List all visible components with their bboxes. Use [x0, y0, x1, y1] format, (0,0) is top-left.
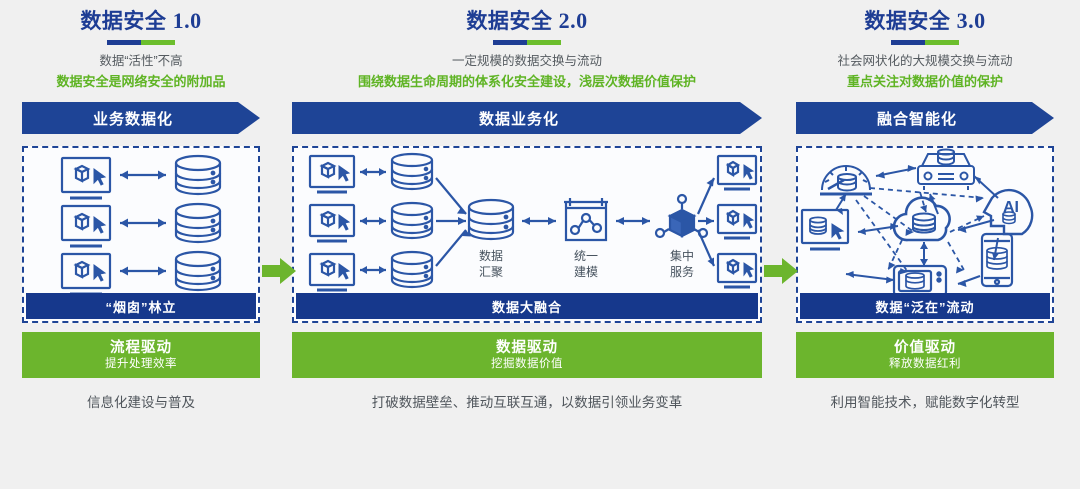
mesh-dashed-link: [920, 192, 927, 212]
divider-blue-half: [493, 40, 527, 45]
diverging-arrow: [698, 178, 714, 214]
stage-2-title-version: 2.0: [559, 8, 588, 33]
stage-1-subtitle-gray: 数据“活性”不高: [22, 52, 260, 70]
stage-1-banner-label: 业务数据化: [93, 108, 173, 129]
divider-green-half: [527, 40, 561, 45]
stage-1-title: 数据安全 1.0: [22, 8, 260, 35]
stage-1-divider: [107, 40, 175, 45]
divider-blue-half: [891, 40, 925, 45]
stage-2-driver-box: 数据驱动 挖掘数据价值: [292, 332, 762, 378]
stage-3-diagram-panel: AI: [796, 146, 1054, 323]
green-arrow-icon: [764, 258, 798, 284]
divider-green-half: [925, 40, 959, 45]
stage-3-driver-sub: 释放数据红利: [889, 357, 961, 372]
monitor-cube-icon: [62, 206, 110, 246]
stage-3-strip-label: 数据“泛在”流动: [875, 297, 974, 316]
bidirectional-arrow: [120, 171, 166, 180]
bidirectional-arrow: [522, 217, 556, 225]
stage-2-strip: 数据大融合: [296, 293, 758, 319]
car-database-icon: [918, 150, 974, 191]
stage-column-2: 数据安全 2.0 一定规模的数据交换与流动 围绕数据生命周期的体系化安全建设，浅…: [292, 0, 762, 489]
stage-2-heading: 数据安全 2.0 一定规模的数据交换与流动 围绕数据生命周期的体系化安全建设，浅…: [292, 8, 762, 92]
stage-3-title: 数据安全 3.0: [796, 8, 1054, 35]
stage-2-divider: [493, 40, 561, 45]
green-arrow-stage2-to-stage3: [764, 258, 798, 284]
monitor-cube-icon: [310, 254, 354, 290]
stage-2-subtitle-gray: 一定规模的数据交换与流动: [292, 52, 762, 70]
stage-2-title-text: 数据安全: [466, 10, 552, 33]
stage-2-label-3-line2: 服务: [670, 264, 694, 279]
stage-3-subtitle-gray: 社会网状化的大规模交换与流动: [796, 52, 1054, 70]
gauge-database-icon: [820, 166, 872, 194]
stage-1-subtitle-green: 数据安全是网络安全的附加品: [22, 72, 260, 92]
tv-database-icon: [894, 266, 946, 296]
monitor-cube-icon: [62, 158, 110, 198]
stage-3-diagram: AI: [798, 148, 1052, 298]
converging-arrow: [436, 217, 466, 225]
monitor-cube-icon: [310, 156, 354, 192]
monitor-database-icon: [802, 210, 848, 249]
bidirectional-arrow: [360, 266, 386, 274]
stage-1-diagram-panel: “烟囱”林立: [22, 146, 260, 323]
stage-2-banner: 数据业务化: [292, 102, 762, 134]
database-icon: [176, 252, 220, 290]
stage-1-driver-box: 流程驱动 提升处理效率: [22, 332, 260, 378]
green-arrow-stage1-to-stage2: [262, 258, 296, 284]
stage-1-driver-main: 流程驱动: [110, 339, 172, 357]
mesh-link: [846, 271, 894, 284]
stage-2-label-2-line2: 建模: [574, 265, 598, 279]
stage-column-1: 数据安全 1.0 数据“活性”不高 数据安全是网络安全的附加品 业务数据化: [22, 0, 260, 489]
mesh-link: [958, 220, 994, 233]
stage-1-strip-label: “烟囱”林立: [105, 297, 176, 316]
stage-2-title: 数据安全 2.0: [292, 8, 762, 35]
monitor-cube-icon: [310, 205, 354, 241]
modeling-box-icon: [564, 198, 608, 240]
stage-3-driver-main: 价值驱动: [894, 339, 956, 357]
stage-3-banner: 融合智能化: [796, 102, 1054, 134]
stage-1-heading: 数据安全 1.0 数据“活性”不高 数据安全是网络安全的附加品: [22, 8, 260, 92]
central-database-icon: [469, 200, 513, 239]
diverging-arrow: [698, 217, 714, 225]
stage-1-banner: 业务数据化: [22, 102, 260, 134]
cloud-database-icon: [894, 198, 950, 240]
mesh-link: [920, 242, 928, 266]
stage-2-strip-label: 数据大融合: [492, 297, 562, 316]
bidirectional-arrow: [360, 168, 386, 176]
mesh-link: [958, 276, 980, 287]
stage-1-strip: “烟囱”林立: [26, 293, 256, 319]
stage-3-title-text: 数据安全: [864, 10, 950, 33]
stage-column-3: 数据安全 3.0 社会网状化的大规模交换与流动 重点关注对数据价值的保护 融合智…: [796, 0, 1054, 489]
mesh-link: [858, 223, 898, 235]
mesh-link: [876, 165, 916, 179]
mesh-link: [836, 194, 846, 215]
bidirectional-arrow: [120, 219, 166, 228]
stage-3-title-version: 3.0: [957, 8, 986, 33]
bidirectional-arrow: [120, 267, 166, 276]
database-icon: [176, 204, 220, 242]
database-icon: [392, 252, 432, 287]
monitor-cube-icon: [718, 254, 756, 287]
svg-text:AI: AI: [1003, 199, 1019, 216]
monitor-cube-icon: [718, 205, 756, 238]
stage-2-subtitle-green: 围绕数据生命周期的体系化安全建设，浅层次数据价值保护: [292, 72, 762, 92]
stage-2-driver-sub: 挖掘数据价值: [491, 357, 563, 372]
bidirectional-arrow: [360, 217, 386, 225]
green-arrow-icon: [262, 258, 296, 284]
stage-3-driver-box: 价值驱动 释放数据红利: [796, 332, 1054, 378]
ai-head-icon: AI: [984, 190, 1032, 234]
stage-1-title-version: 1.0: [173, 8, 202, 33]
stage-3-subtitle-green: 重点关注对数据价值的保护: [796, 72, 1054, 92]
divider-blue-half: [107, 40, 141, 45]
phone-database-icon: [982, 234, 1012, 286]
stage-3-banner-label: 融合智能化: [877, 108, 957, 129]
stage-1-title-text: 数据安全: [80, 10, 166, 33]
mesh-dashed-link: [870, 188, 984, 203]
stage-2-driver-main: 数据驱动: [496, 339, 558, 357]
mesh-dashed-link: [948, 242, 964, 274]
divider-green-half: [141, 40, 175, 45]
stage-2-caption: 打破数据壁垒、推动互联互通，以数据引领业务变革: [292, 391, 762, 411]
stage-1-caption: 信息化建设与普及: [22, 391, 260, 411]
monitor-cube-icon: [62, 254, 110, 294]
database-icon: [392, 203, 432, 238]
infographic-board: 数据安全 1.0 数据“活性”不高 数据安全是网络安全的附加品 业务数据化: [0, 0, 1080, 489]
bidirectional-arrow: [616, 217, 650, 225]
stage-3-divider: [891, 40, 959, 45]
stage-3-caption: 利用智能技术，赋能数字化转型: [796, 391, 1054, 411]
stage-2-label-3-line1: 集中: [670, 248, 694, 263]
stage-2-diagram-panel: 数据 汇聚 统一 建模 集中 服务 数据大融合: [292, 146, 762, 323]
stage-1-driver-sub: 提升处理效率: [105, 357, 177, 372]
stage-2-label-2-line1: 统一: [574, 249, 598, 263]
stage-3-strip: 数据“泛在”流动: [800, 293, 1050, 319]
stage-2-banner-label: 数据业务化: [479, 108, 559, 129]
stage-2-label-1-line1: 数据: [479, 248, 503, 263]
database-icon: [392, 154, 432, 189]
converging-arrow: [436, 178, 466, 214]
converging-arrow: [436, 230, 471, 266]
stage-2-label-1-line2: 汇聚: [479, 265, 503, 279]
stage-2-diagram: 数据 汇聚 统一 建模 集中 服务: [294, 148, 760, 298]
stage-3-heading: 数据安全 3.0 社会网状化的大规模交换与流动 重点关注对数据价值的保护: [796, 8, 1054, 92]
monitor-cube-icon: [718, 156, 756, 189]
stage-1-diagram: [24, 148, 258, 298]
database-icon: [176, 156, 220, 194]
